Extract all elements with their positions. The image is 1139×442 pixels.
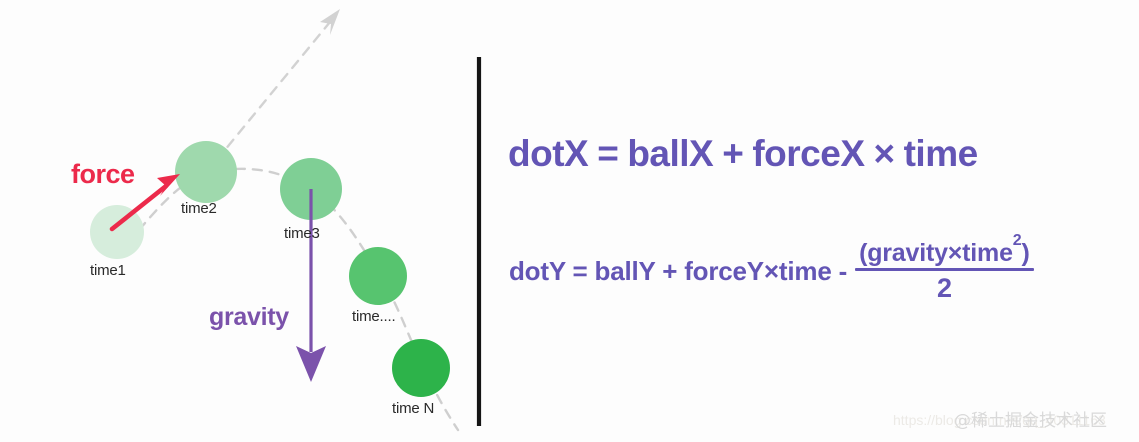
formula-panel: dotX = ballX + forceX × time dotY = ball… bbox=[500, 0, 1139, 442]
formula-doty-numerator: (gravity×time2) bbox=[855, 240, 1034, 268]
ball-label-time2: time2 bbox=[181, 200, 217, 217]
ball-timeN bbox=[392, 339, 450, 397]
ball-label-time3: time3 bbox=[284, 225, 320, 242]
force-label: force bbox=[71, 159, 135, 190]
paren-close: ) bbox=[1022, 239, 1030, 267]
numerator-body: gravity×time bbox=[867, 239, 1013, 267]
numerator-exponent: 2 bbox=[1013, 232, 1022, 249]
watermark-brand: @稀土掘金技术社区 bbox=[954, 406, 1107, 431]
ball-label-time1: time1 bbox=[90, 262, 126, 279]
screenshot-canvas: time1 time2 time3 time.... time N force … bbox=[0, 0, 1139, 442]
formula-doty: dotY = ballY + forceY×time - (gravity×ti… bbox=[509, 240, 1034, 303]
formula-doty-lead: dotY = ballY + forceY×time - bbox=[509, 256, 847, 287]
formula-dotx-term1: ballX bbox=[627, 133, 713, 175]
ball-label-time-dots: time.... bbox=[352, 308, 395, 325]
ball-time1 bbox=[90, 205, 144, 259]
formula-dotx: dotX = ballX + forceX × time bbox=[508, 133, 978, 175]
formula-doty-denominator: 2 bbox=[937, 271, 952, 302]
formula-dotx-times: × bbox=[874, 133, 895, 175]
gravity-label: gravity bbox=[209, 303, 289, 332]
formula-dotx-plus: + bbox=[722, 133, 743, 175]
formula-dotx-term3: time bbox=[904, 133, 978, 175]
ball-time2 bbox=[175, 141, 237, 203]
formula-dotx-equals: = bbox=[597, 133, 618, 175]
formula-dotx-term2: forceX bbox=[752, 133, 864, 175]
formula-dotx-lhs: dotX bbox=[508, 133, 588, 175]
paren-open: ( bbox=[859, 239, 867, 267]
formula-doty-fraction: (gravity×time2) 2 bbox=[855, 240, 1034, 303]
ball-time-dots bbox=[349, 247, 407, 305]
ball-label-timeN: time N bbox=[392, 400, 434, 417]
